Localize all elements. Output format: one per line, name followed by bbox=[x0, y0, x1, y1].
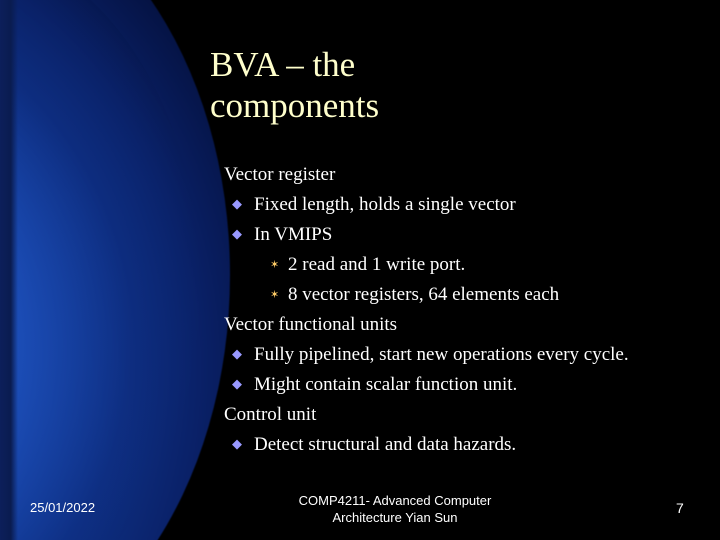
bullet-text: Vector register bbox=[224, 164, 335, 185]
bullet-text: Fixed length, holds a single vector bbox=[254, 194, 516, 215]
bullet-text: 2 read and 1 write port. bbox=[288, 254, 465, 275]
diamond-bullet-icon: ◆ bbox=[232, 430, 242, 459]
diamond-bullet-icon: ◆ bbox=[232, 370, 242, 399]
bullet-item: ◆ Detect structural and data hazards. bbox=[224, 430, 704, 459]
bullet-item: Vector register bbox=[224, 160, 704, 189]
diamond-bullet-icon: ◆ bbox=[232, 340, 242, 369]
star-bullet-icon: ✶ bbox=[270, 280, 279, 309]
footer-page-number: 7 bbox=[676, 500, 684, 516]
footer-course-line-1: COMP4211- Advanced Computer bbox=[200, 492, 590, 509]
slide-title: BVA – the components bbox=[210, 44, 680, 127]
bullet-text: Fully pipelined, start new operations ev… bbox=[254, 344, 629, 365]
bullet-item: Vector functional units bbox=[224, 310, 704, 339]
slide-title-line-1: BVA – the bbox=[210, 44, 680, 85]
bullet-item: ✶ 2 read and 1 write port. bbox=[224, 250, 704, 279]
bullet-text: In VMIPS bbox=[254, 224, 332, 245]
slide-title-line-2: components bbox=[210, 85, 680, 126]
slide-body: Vector register ◆ Fixed length, holds a … bbox=[224, 160, 704, 460]
background-left-edge bbox=[0, 0, 18, 540]
footer-date: 25/01/2022 bbox=[30, 500, 95, 515]
bullet-item: ◆ Fully pipelined, start new operations … bbox=[224, 340, 704, 369]
bullet-item: ◆ Fixed length, holds a single vector bbox=[224, 190, 704, 219]
bullet-item: ✶ 8 vector registers, 64 elements each bbox=[224, 280, 704, 309]
bullet-text: 8 vector registers, 64 elements each bbox=[288, 284, 559, 305]
presentation-slide: BVA – the components Vector register ◆ F… bbox=[0, 0, 720, 540]
bullet-text: Might contain scalar function unit. bbox=[254, 374, 517, 395]
bullet-item: ◆ Might contain scalar function unit. bbox=[224, 370, 704, 399]
footer-course-line-2: Architecture Yian Sun bbox=[200, 509, 590, 526]
diamond-bullet-icon: ◆ bbox=[232, 220, 242, 249]
bullet-item: Control unit bbox=[224, 400, 704, 429]
footer-course-info: COMP4211- Advanced Computer Architecture… bbox=[200, 492, 590, 526]
bullet-text: Detect structural and data hazards. bbox=[254, 434, 516, 455]
star-bullet-icon: ✶ bbox=[270, 250, 279, 279]
bullet-text: Vector functional units bbox=[224, 314, 397, 335]
bullet-text: Control unit bbox=[224, 404, 316, 425]
bullet-item: ◆ In VMIPS bbox=[224, 220, 704, 249]
diamond-bullet-icon: ◆ bbox=[232, 190, 242, 219]
